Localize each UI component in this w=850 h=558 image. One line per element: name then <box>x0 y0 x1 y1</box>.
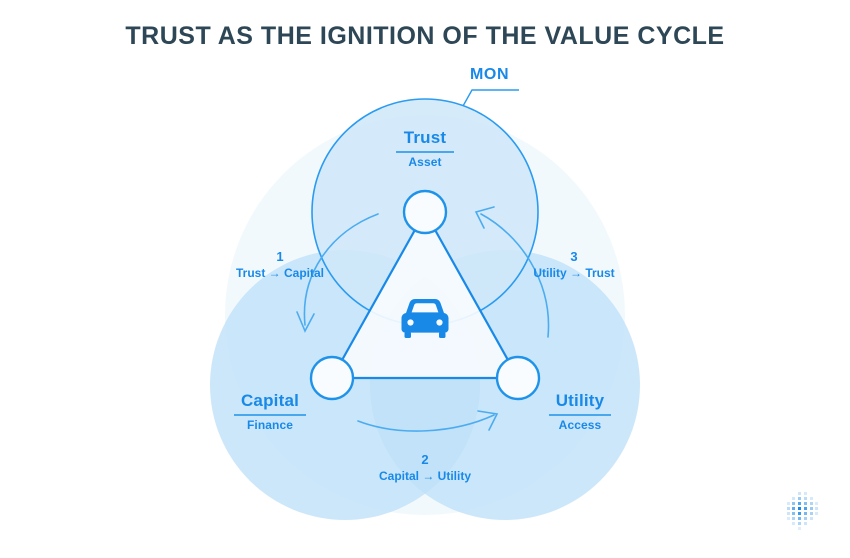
node-subtitle-trust: Asset <box>365 155 485 169</box>
step-label-3: 3 Utility → Trust <box>512 249 636 280</box>
step-number-3: 3 <box>512 249 636 264</box>
node-title-utility: Utility <box>520 391 640 411</box>
node-circle-trust[interactable] <box>404 191 446 233</box>
node-title-trust: Trust <box>365 128 485 148</box>
step-number-2: 2 <box>363 452 487 467</box>
node-subtitle-utility: Access <box>520 418 640 432</box>
step-label-2: 2 Capital → Utility <box>363 452 487 483</box>
node-rule-trust <box>396 151 454 153</box>
step-label-1: 1 Trust → Capital <box>218 249 342 280</box>
node-rule-utility <box>549 414 611 416</box>
step-text-1: Trust → Capital <box>218 266 342 280</box>
node-title-capital: Capital <box>210 391 330 411</box>
callout-label: MON <box>470 66 570 84</box>
node-label-trust: Trust Asset <box>365 128 485 169</box>
step-number-1: 1 <box>218 249 342 264</box>
diagram-canvas: TRUST AS THE IGNITION OF THE VALUE CYCLE <box>0 0 850 558</box>
step-text-2: Capital → Utility <box>363 469 487 483</box>
dot-matrix-logo <box>784 489 822 531</box>
node-label-utility: Utility Access <box>520 391 640 432</box>
leader-line-icon <box>463 90 519 106</box>
step-text-3: Utility → Trust <box>512 266 636 280</box>
node-rule-capital <box>234 414 306 416</box>
node-subtitle-capital: Finance <box>210 418 330 432</box>
node-label-capital: Capital Finance <box>210 391 330 432</box>
